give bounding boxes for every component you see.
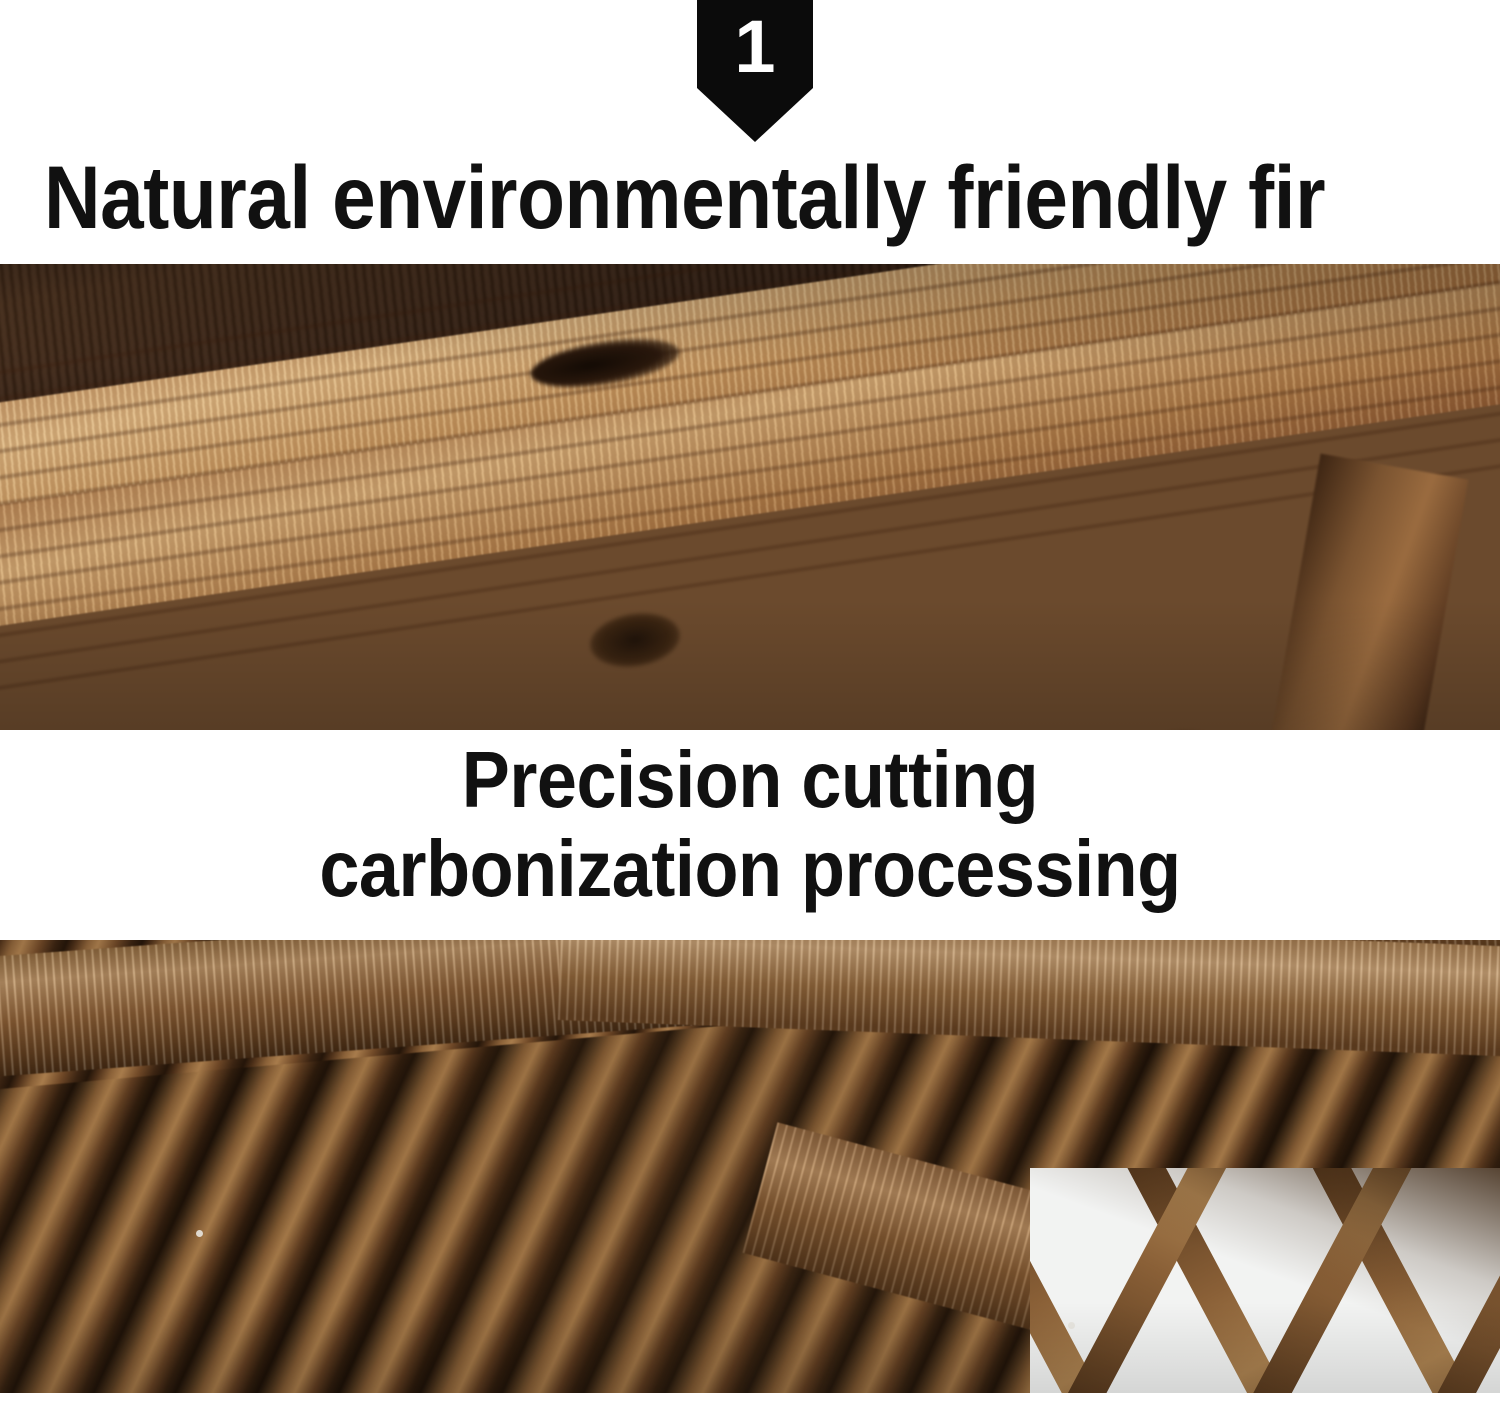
step-badge: 1 [697,0,813,142]
wood-knot [1125,725,1235,730]
caption-line-1: Precision cutting [75,735,1425,824]
bench-slats-photo [0,940,1500,1393]
product-feature-panel: 1 Natural environmentally friendly fir P… [0,0,1500,1409]
wood-closeup-photo [0,264,1500,730]
wood-texture-layer [0,264,1500,730]
feature-caption: Precision cutting carbonization processi… [0,735,1500,931]
page-title: Natural environmentally friendly fir [44,147,1294,247]
caption-line-2: carbonization processing [75,824,1425,913]
step-number: 1 [697,2,813,92]
bench-texture-layer [0,940,1500,1393]
lattice-support [1030,1168,1500,1393]
